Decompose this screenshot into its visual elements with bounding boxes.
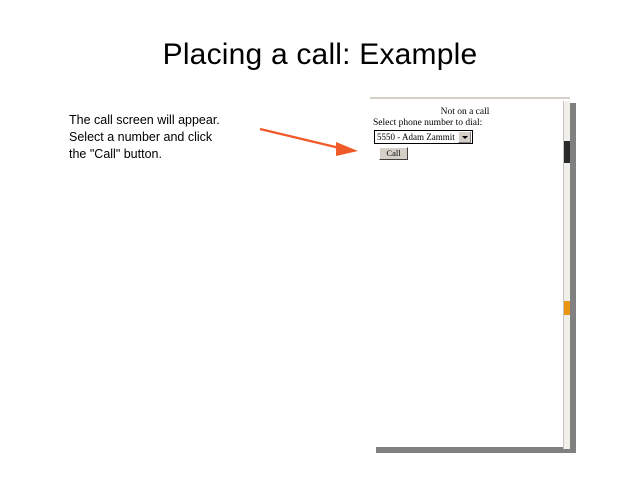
body-text: The call screen will appear. Select a nu…	[69, 112, 269, 163]
scrollbar-marker	[564, 301, 570, 315]
chevron-down-icon[interactable]	[458, 131, 471, 143]
body-text-line-3: the "Call" button.	[69, 146, 269, 163]
body-text-line-1: The call screen will appear.	[69, 112, 269, 129]
vertical-scrollbar[interactable]	[563, 101, 570, 449]
call-screen-window: Not on a call Select phone number to dia…	[370, 97, 570, 447]
body-text-line-2: Select a number and click	[69, 129, 269, 146]
slide: Placing a call: Example The call screen …	[0, 0, 640, 480]
dial-number-label: Select phone number to dial:	[373, 118, 482, 128]
phone-number-select[interactable]: 5550 - Adam Zammit	[374, 130, 473, 144]
call-button[interactable]: Call	[379, 147, 408, 160]
page-title: Placing a call: Example	[0, 38, 640, 72]
scrollbar-thumb[interactable]	[564, 141, 570, 163]
call-status-text: Not on a call	[370, 107, 560, 117]
arrow-right-icon	[258, 124, 368, 160]
embedded-screenshot: Not on a call Select phone number to dia…	[370, 97, 570, 447]
phone-number-select-value: 5550 - Adam Zammit	[375, 132, 458, 142]
